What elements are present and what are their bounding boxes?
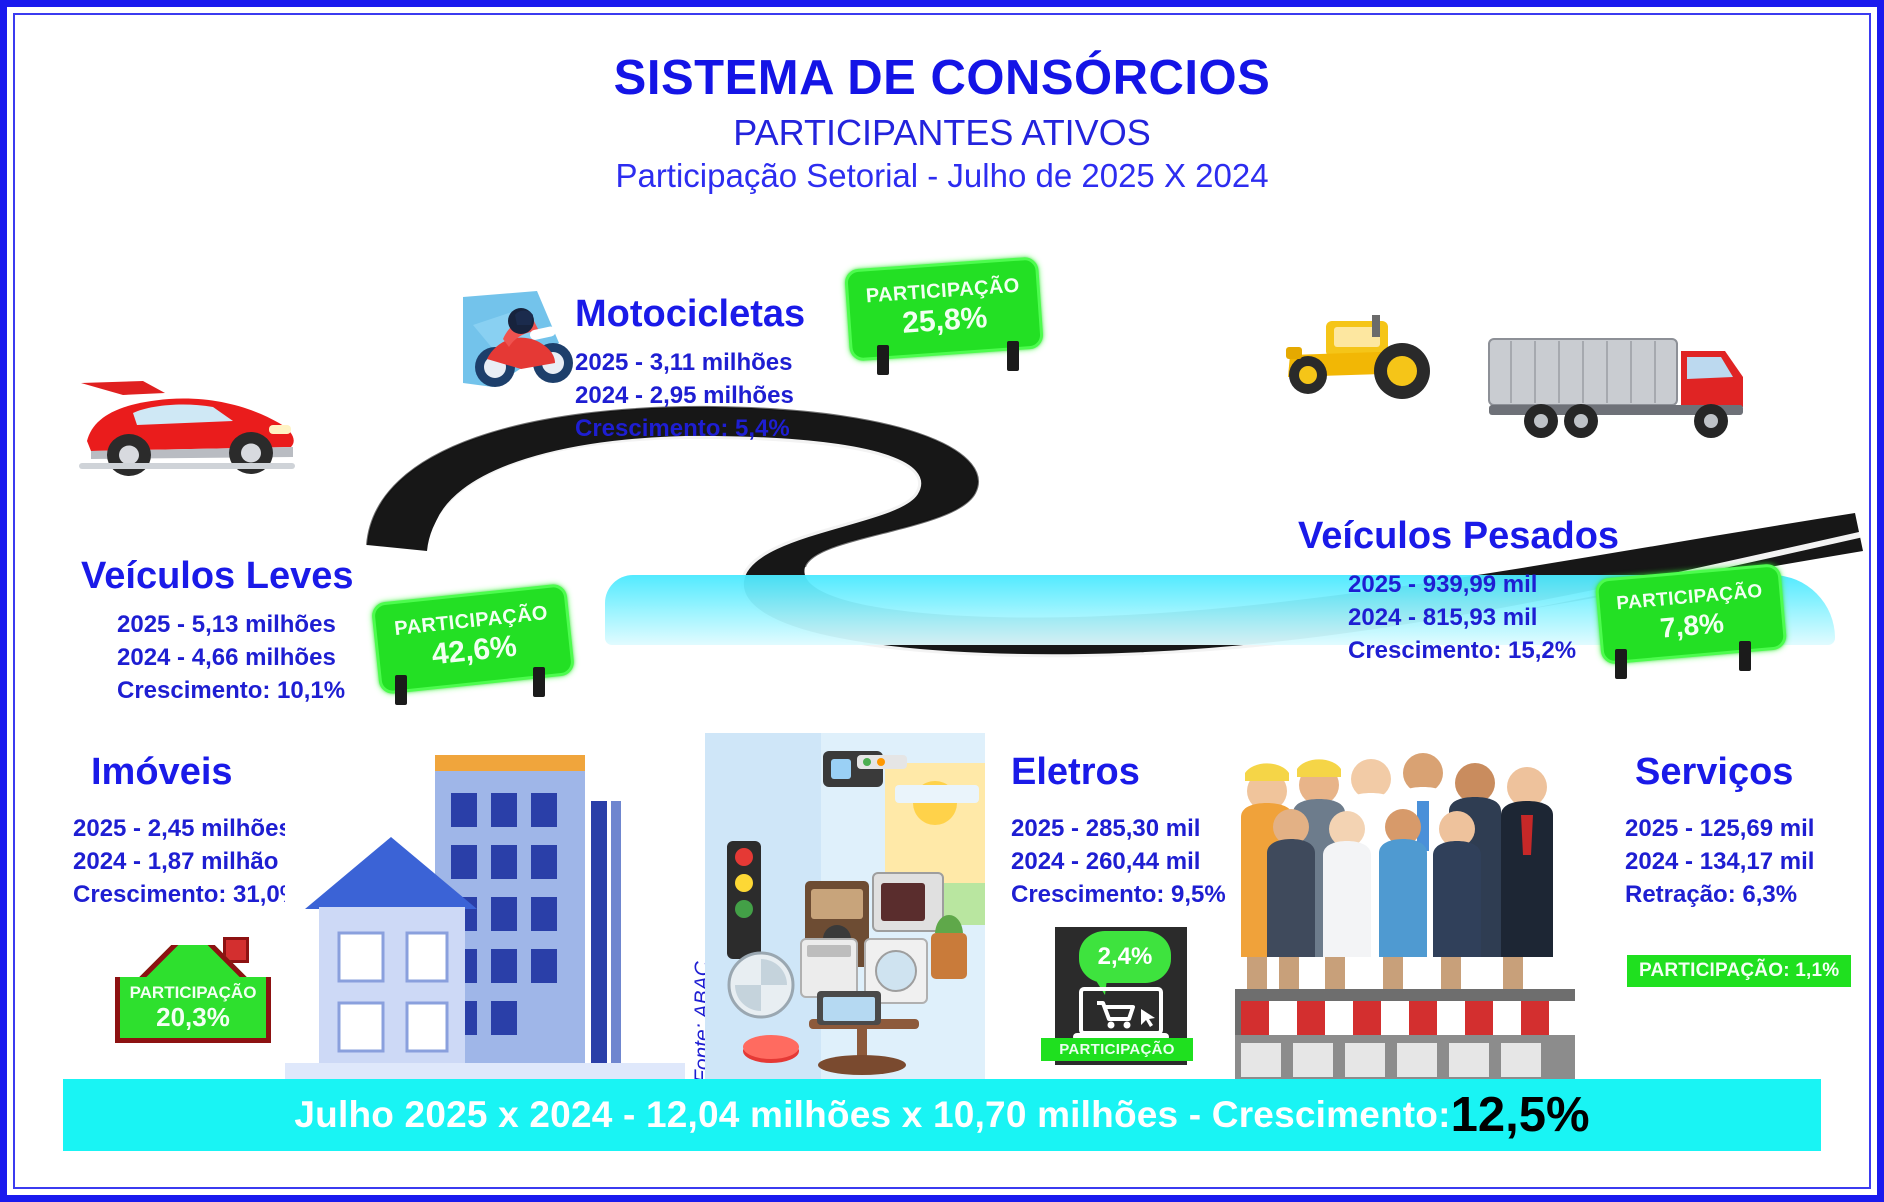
sector-2024-eletros: 2024 - 260,44 mil [1011,845,1226,878]
truck-icon [1485,333,1755,453]
sector-change-veiculos-pesados: Crescimento: 15,2% [1348,634,1619,667]
sector-2024-motocicletas: 2024 - 2,95 milhões [575,379,805,412]
sector-2024-servicos: 2024 - 134,17 mil [1625,845,1814,878]
participation-badge-servicos[interactable]: PARTICIPAÇÃO: 1,1% [1627,955,1851,987]
sector-motocicletas: Motocicletas 2025 - 3,11 milhões 2024 - … [575,293,805,445]
professionals-icon [1235,743,1575,1083]
sector-imoveis: Imóveis 2025 - 2,45 milhões 2024 - 1,87 … [73,751,301,911]
buildings-icon [285,741,685,1081]
house-body: PARTICIPAÇÃO 20,3% [115,977,271,1043]
sector-2025-imoveis: 2025 - 2,45 milhões [73,812,301,845]
sector-change-veiculos-leves: Crescimento: 10,1% [117,674,354,707]
sector-2025-eletros: 2025 - 285,30 mil [1011,812,1226,845]
participation-label-motocicletas: PARTICIPAÇÃO [865,276,1020,307]
sector-2025-servicos: 2025 - 125,69 mil [1625,812,1814,845]
sector-title-eletros: Eletros [1011,751,1226,794]
sector-2024-veiculos-pesados: 2024 - 815,93 mil [1348,601,1619,634]
sector-change-eletros: Crescimento: 9,5% [1011,878,1226,911]
participation-value-veiculos-pesados: 7,8% [1659,608,1725,643]
participation-value-imoveis: 20,3% [156,1004,230,1031]
sector-title-imoveis: Imóveis [91,751,301,794]
sector-change-imoveis: Crescimento: 31,0% [73,878,301,911]
participation-badge-imoveis[interactable]: PARTICIPAÇÃO 20,3% [107,937,279,1045]
sector-change-motocicletas: Crescimento: 5,4% [575,412,805,445]
roof-shape [107,945,279,981]
sector-title-servicos: Serviços [1635,751,1814,794]
sector-2025-motocicletas: 2025 - 3,11 milhões [575,346,805,379]
participation-label-veiculos-pesados: PARTICIPAÇÃO [1616,582,1764,614]
sector-title-motocicletas: Motocicletas [575,293,805,336]
summary-text: Julho 2025 x 2024 - 12,04 milhões x 10,7… [294,1094,1450,1136]
page-subtitle: PARTICIPANTES ATIVOS [15,111,1869,154]
participation-value-motocicletas: 25,8% [901,302,988,339]
sign-post-right-veiculos-leves [533,667,545,697]
sector-servicos: Serviços 2025 - 125,69 mil 2024 - 134,17… [1625,751,1814,911]
participation-badge-eletros[interactable]: 2,4% PARTICIPAÇÃO [1055,927,1187,1065]
sector-title-veiculos-leves: Veículos Leves [81,555,354,598]
sector-2024-veiculos-leves: 2024 - 4,66 milhões [117,641,354,674]
sector-veiculos-pesados: Veículos Pesados 2025 - 939,99 mil 2024 … [1298,515,1619,667]
sign-post-right-motocicletas [1007,341,1019,371]
sector-change-servicos: Retração: 6,3% [1625,878,1814,911]
poster-inner-frame: SISTEMA DE CONSÓRCIOS PARTICIPANTES ATIV… [13,13,1871,1189]
summary-bar: Julho 2025 x 2024 - 12,04 milhões x 10,7… [63,1079,1821,1151]
sports-car-icon [73,367,303,477]
page-subtitle-2: Participação Setorial - Julho de 2025 X … [15,156,1869,196]
participation-label-eletros: PARTICIPAÇÃO [1041,1038,1193,1061]
sign-post-left-veiculos-pesados [1615,649,1627,679]
summary-highlight: 12,5% [1451,1087,1590,1143]
poster-header: SISTEMA DE CONSÓRCIOS PARTICIPANTES ATIV… [15,53,1869,196]
participation-label-imoveis: PARTICIPAÇÃO [130,984,257,1001]
participation-value-eletros: 2,4% [1079,931,1171,983]
sign-post-right-veiculos-pesados [1739,641,1751,671]
sector-2025-veiculos-leves: 2025 - 5,13 milhões [117,608,354,641]
sector-2025-veiculos-pesados: 2025 - 939,99 mil [1348,568,1619,601]
sign-post-left-veiculos-leves [395,675,407,705]
page-title: SISTEMA DE CONSÓRCIOS [15,53,1869,105]
infographic-poster: SISTEMA DE CONSÓRCIOS PARTICIPANTES ATIV… [0,0,1884,1202]
participation-value-veiculos-leves: 42,6% [430,631,518,671]
sector-eletros: Eletros 2025 - 285,30 mil 2024 - 260,44 … [1011,751,1226,911]
appliances-icon [705,733,985,1083]
sector-title-veiculos-pesados: Veículos Pesados [1298,515,1619,558]
sign-post-left-motocicletas [877,345,889,375]
sector-veiculos-leves: Veículos Leves 2025 - 5,13 milhões 2024 … [81,555,354,707]
tractor-icon [1260,307,1440,401]
sector-2024-imoveis: 2024 - 1,87 milhão [73,845,301,878]
motorcycle-icon [463,291,583,395]
